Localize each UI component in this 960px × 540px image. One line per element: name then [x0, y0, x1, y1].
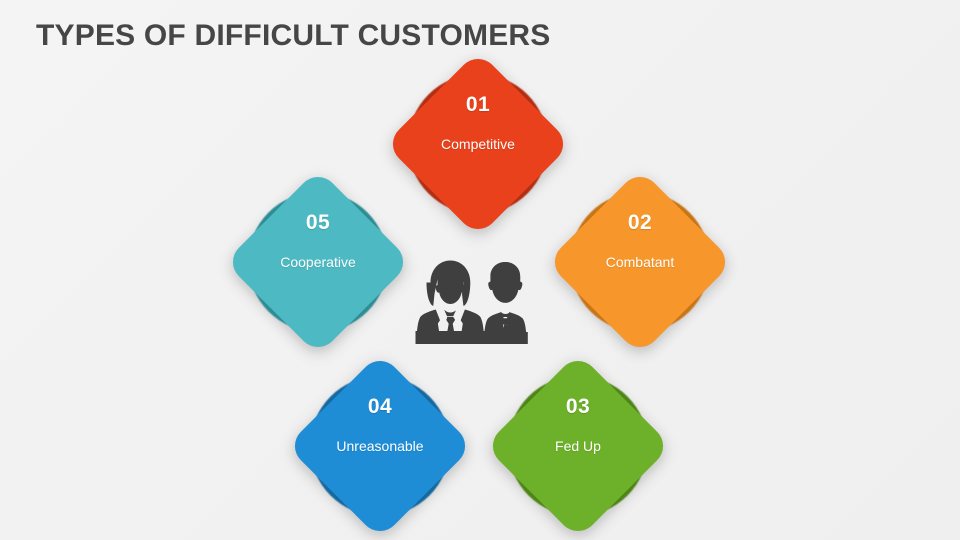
node-diamond-shape — [485, 353, 672, 540]
node-diamond-shape — [287, 353, 474, 540]
slide-canvas: TYPES OF DIFFICULT CUSTOMERS 01 Competit… — [0, 0, 960, 540]
diamond-node-fed-up[interactable]: 03 Fed Up — [496, 364, 660, 528]
node-diamond-shape — [225, 169, 412, 356]
diamond-node-competitive[interactable]: 01 Competitive — [396, 62, 560, 226]
node-diamond-shape — [547, 169, 734, 356]
diamond-node-combatant[interactable]: 02 Combatant — [558, 180, 722, 344]
page-title: TYPES OF DIFFICULT CUSTOMERS — [36, 18, 551, 54]
two-business-people-icon — [408, 252, 556, 344]
diamond-node-unreasonable[interactable]: 04 Unreasonable — [298, 364, 462, 528]
diamond-node-cooperative[interactable]: 05 Cooperative — [236, 180, 400, 344]
node-diamond-shape — [385, 51, 572, 238]
